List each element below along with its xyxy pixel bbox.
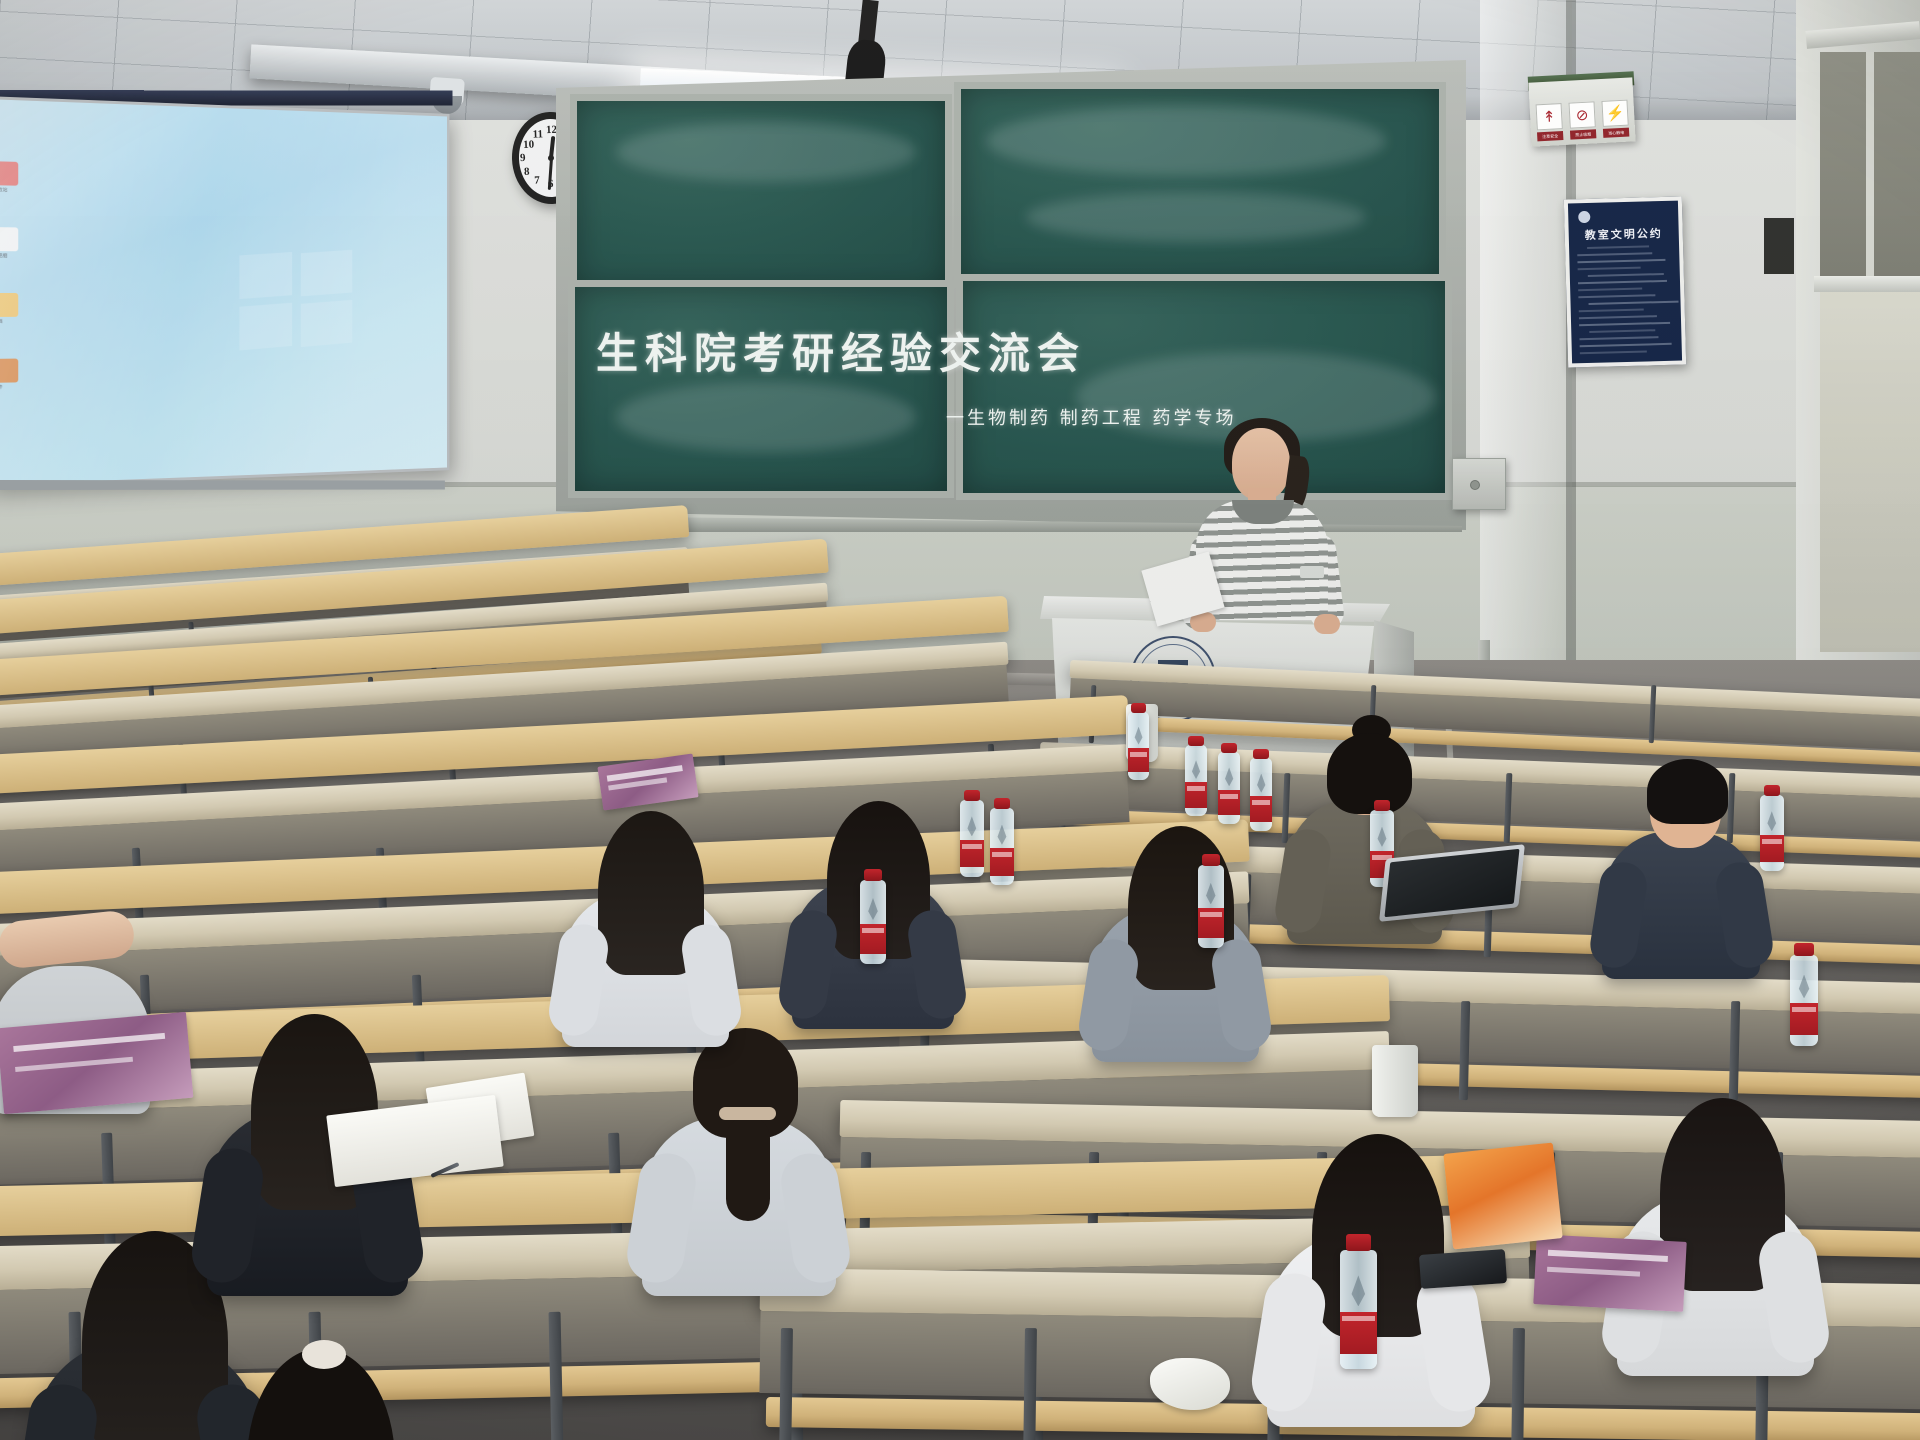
desk-leg bbox=[779, 1328, 793, 1440]
water-bottle bbox=[1128, 712, 1149, 780]
bottle-cap bbox=[994, 798, 1011, 809]
desk-leg bbox=[1511, 1328, 1525, 1440]
bottle-cap bbox=[1221, 743, 1236, 753]
bottle-cap bbox=[1346, 1234, 1371, 1251]
bottle-cap bbox=[1253, 749, 1269, 759]
bottle-graphic bbox=[995, 825, 1010, 845]
water-bottle bbox=[1198, 865, 1224, 948]
student-right-male-hair bbox=[1647, 759, 1728, 824]
bottle-graphic bbox=[1795, 975, 1812, 999]
bottle-graphic bbox=[1375, 827, 1390, 847]
bottle-graphic bbox=[1765, 811, 1779, 831]
bottle-cap bbox=[1764, 785, 1780, 796]
bottle-graphic bbox=[1347, 1275, 1370, 1306]
bottle-graphic bbox=[1222, 767, 1236, 786]
bottle-label bbox=[1185, 782, 1207, 808]
bottle-graphic bbox=[865, 898, 881, 920]
student-bun-hair bbox=[1327, 733, 1411, 814]
bottle-graphic bbox=[1132, 727, 1145, 745]
handout-flyer[interactable] bbox=[0, 1012, 193, 1114]
bottle-cap bbox=[1794, 943, 1814, 956]
water-bottle bbox=[1760, 795, 1784, 871]
smartphone[interactable] bbox=[1419, 1249, 1507, 1289]
bottle-cap bbox=[1202, 854, 1220, 866]
student-center-mid bbox=[560, 800, 750, 1047]
student-mid-right bbox=[1090, 815, 1280, 1062]
handout-flyer[interactable] bbox=[1533, 1234, 1686, 1312]
water-bottle bbox=[1790, 955, 1818, 1046]
bottle-label bbox=[960, 840, 984, 867]
water-bottle bbox=[1250, 758, 1272, 831]
water-bottle bbox=[860, 880, 886, 964]
bottle-graphic bbox=[965, 816, 980, 836]
bottle-graphic bbox=[1203, 883, 1219, 905]
student-bottom-left-hair-clip bbox=[302, 1340, 346, 1369]
bottle-label bbox=[1790, 1003, 1818, 1036]
bottle-cap bbox=[1188, 736, 1203, 746]
bottle-cap bbox=[1374, 800, 1391, 811]
student-center-low-ponytail bbox=[726, 1116, 770, 1222]
bottle-label bbox=[990, 848, 1014, 876]
water-bottle bbox=[990, 808, 1014, 885]
bottle-label bbox=[1218, 790, 1240, 816]
water-bottle bbox=[1185, 745, 1207, 816]
bottle-label bbox=[860, 924, 886, 954]
student-bottom-left bbox=[195, 1330, 455, 1440]
bottle-cap bbox=[964, 790, 980, 801]
bottle-label bbox=[1250, 796, 1272, 822]
snack-bag[interactable] bbox=[1443, 1143, 1562, 1250]
bottle-label bbox=[1128, 748, 1149, 772]
water-bottle bbox=[960, 800, 984, 877]
bottle-graphic bbox=[1189, 760, 1203, 779]
water-bottle bbox=[1218, 752, 1240, 824]
student-center-low-hair-tie bbox=[719, 1107, 776, 1120]
student-right-low bbox=[1615, 1085, 1839, 1376]
bottle-cap bbox=[1131, 703, 1146, 713]
student-far-left-arm bbox=[0, 909, 136, 970]
lecture-hall-photo: 回收站此电脑文档软件 121234567891011 生科院考研经验交流会 一生… bbox=[0, 0, 1920, 1440]
bottle-cap bbox=[864, 869, 882, 881]
bottle-label bbox=[1760, 835, 1784, 862]
student-center-low bbox=[640, 1010, 860, 1296]
thermos-cup[interactable] bbox=[1372, 1045, 1418, 1117]
student-right-male bbox=[1600, 745, 1780, 979]
bottle-graphic bbox=[1254, 774, 1268, 793]
water-bottle bbox=[1340, 1250, 1377, 1369]
desk-leg bbox=[1023, 1328, 1037, 1440]
bottle-label bbox=[1198, 908, 1224, 938]
bottle-label bbox=[1340, 1312, 1377, 1354]
